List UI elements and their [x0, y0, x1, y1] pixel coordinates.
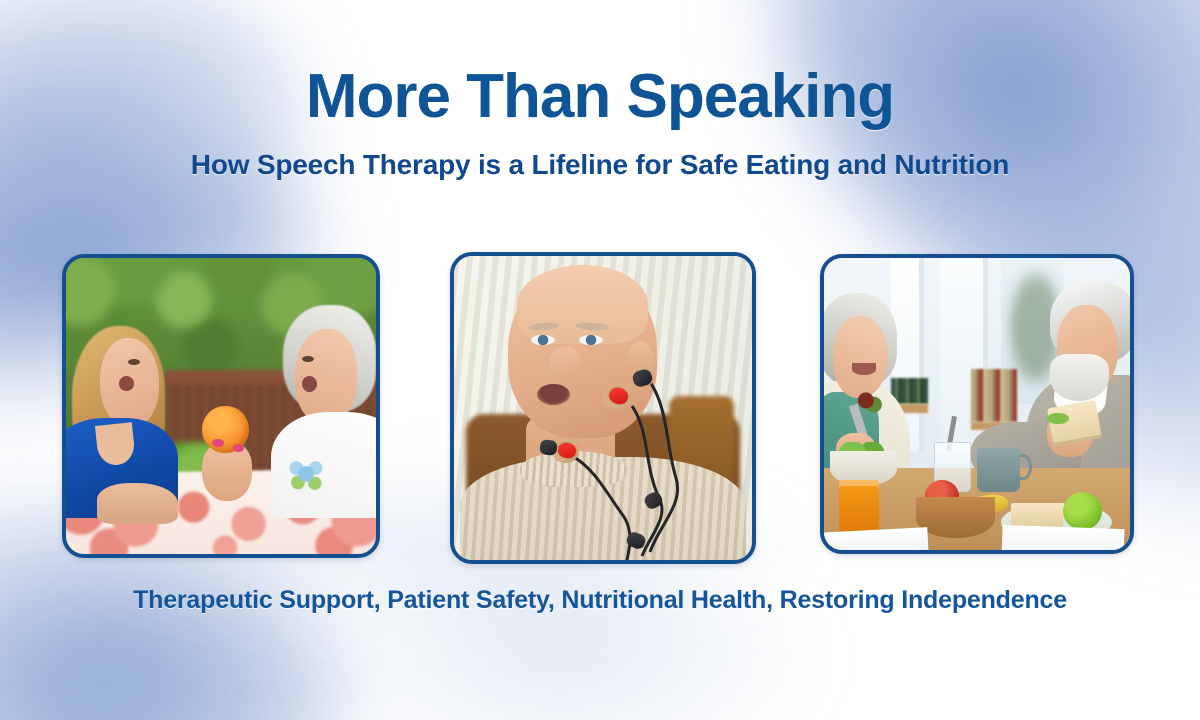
page-subtitle: How Speech Therapy is a Lifeline for Saf… — [0, 149, 1200, 181]
background-blob-center-bottom — [300, 560, 820, 720]
photo-couple-meal — [824, 258, 1130, 550]
patient-eye — [302, 356, 314, 363]
footer-tagline: Therapeutic Support, Patient Safety, Nut… — [0, 586, 1200, 615]
green-apple — [1063, 492, 1103, 530]
orange-juice-glass — [839, 480, 879, 535]
photo-therapist-session — [66, 258, 376, 554]
photo-frame-couple-meal — [820, 254, 1134, 554]
photo-frame-electrode-therapy — [450, 252, 756, 564]
photo-frame-therapist-session — [62, 254, 380, 558]
poster-canvas: More Than Speaking How Speech Therapy is… — [0, 0, 1200, 720]
woman-face — [833, 316, 888, 398]
woman-smile — [852, 363, 876, 375]
page-title: More Than Speaking — [0, 64, 1200, 129]
coffee-mug — [977, 448, 1020, 492]
window-mullion — [919, 258, 924, 451]
floral-print — [286, 453, 326, 494]
bookshelf-books — [971, 369, 1017, 422]
therapist-arm — [97, 483, 178, 524]
footer-block: Therapeutic Support, Patient Safety, Nut… — [0, 586, 1200, 615]
sandwich-on-plate — [1011, 503, 1063, 526]
wooden-fruit-bowl — [916, 497, 996, 538]
man-beard — [1050, 354, 1108, 401]
headline-block: More Than Speaking How Speech Therapy is… — [0, 64, 1200, 181]
photo-electrode-therapy — [454, 256, 752, 560]
background-blob-bottom-corner — [0, 620, 320, 720]
table-papers — [1001, 525, 1124, 550]
photo-row — [0, 252, 1200, 567]
